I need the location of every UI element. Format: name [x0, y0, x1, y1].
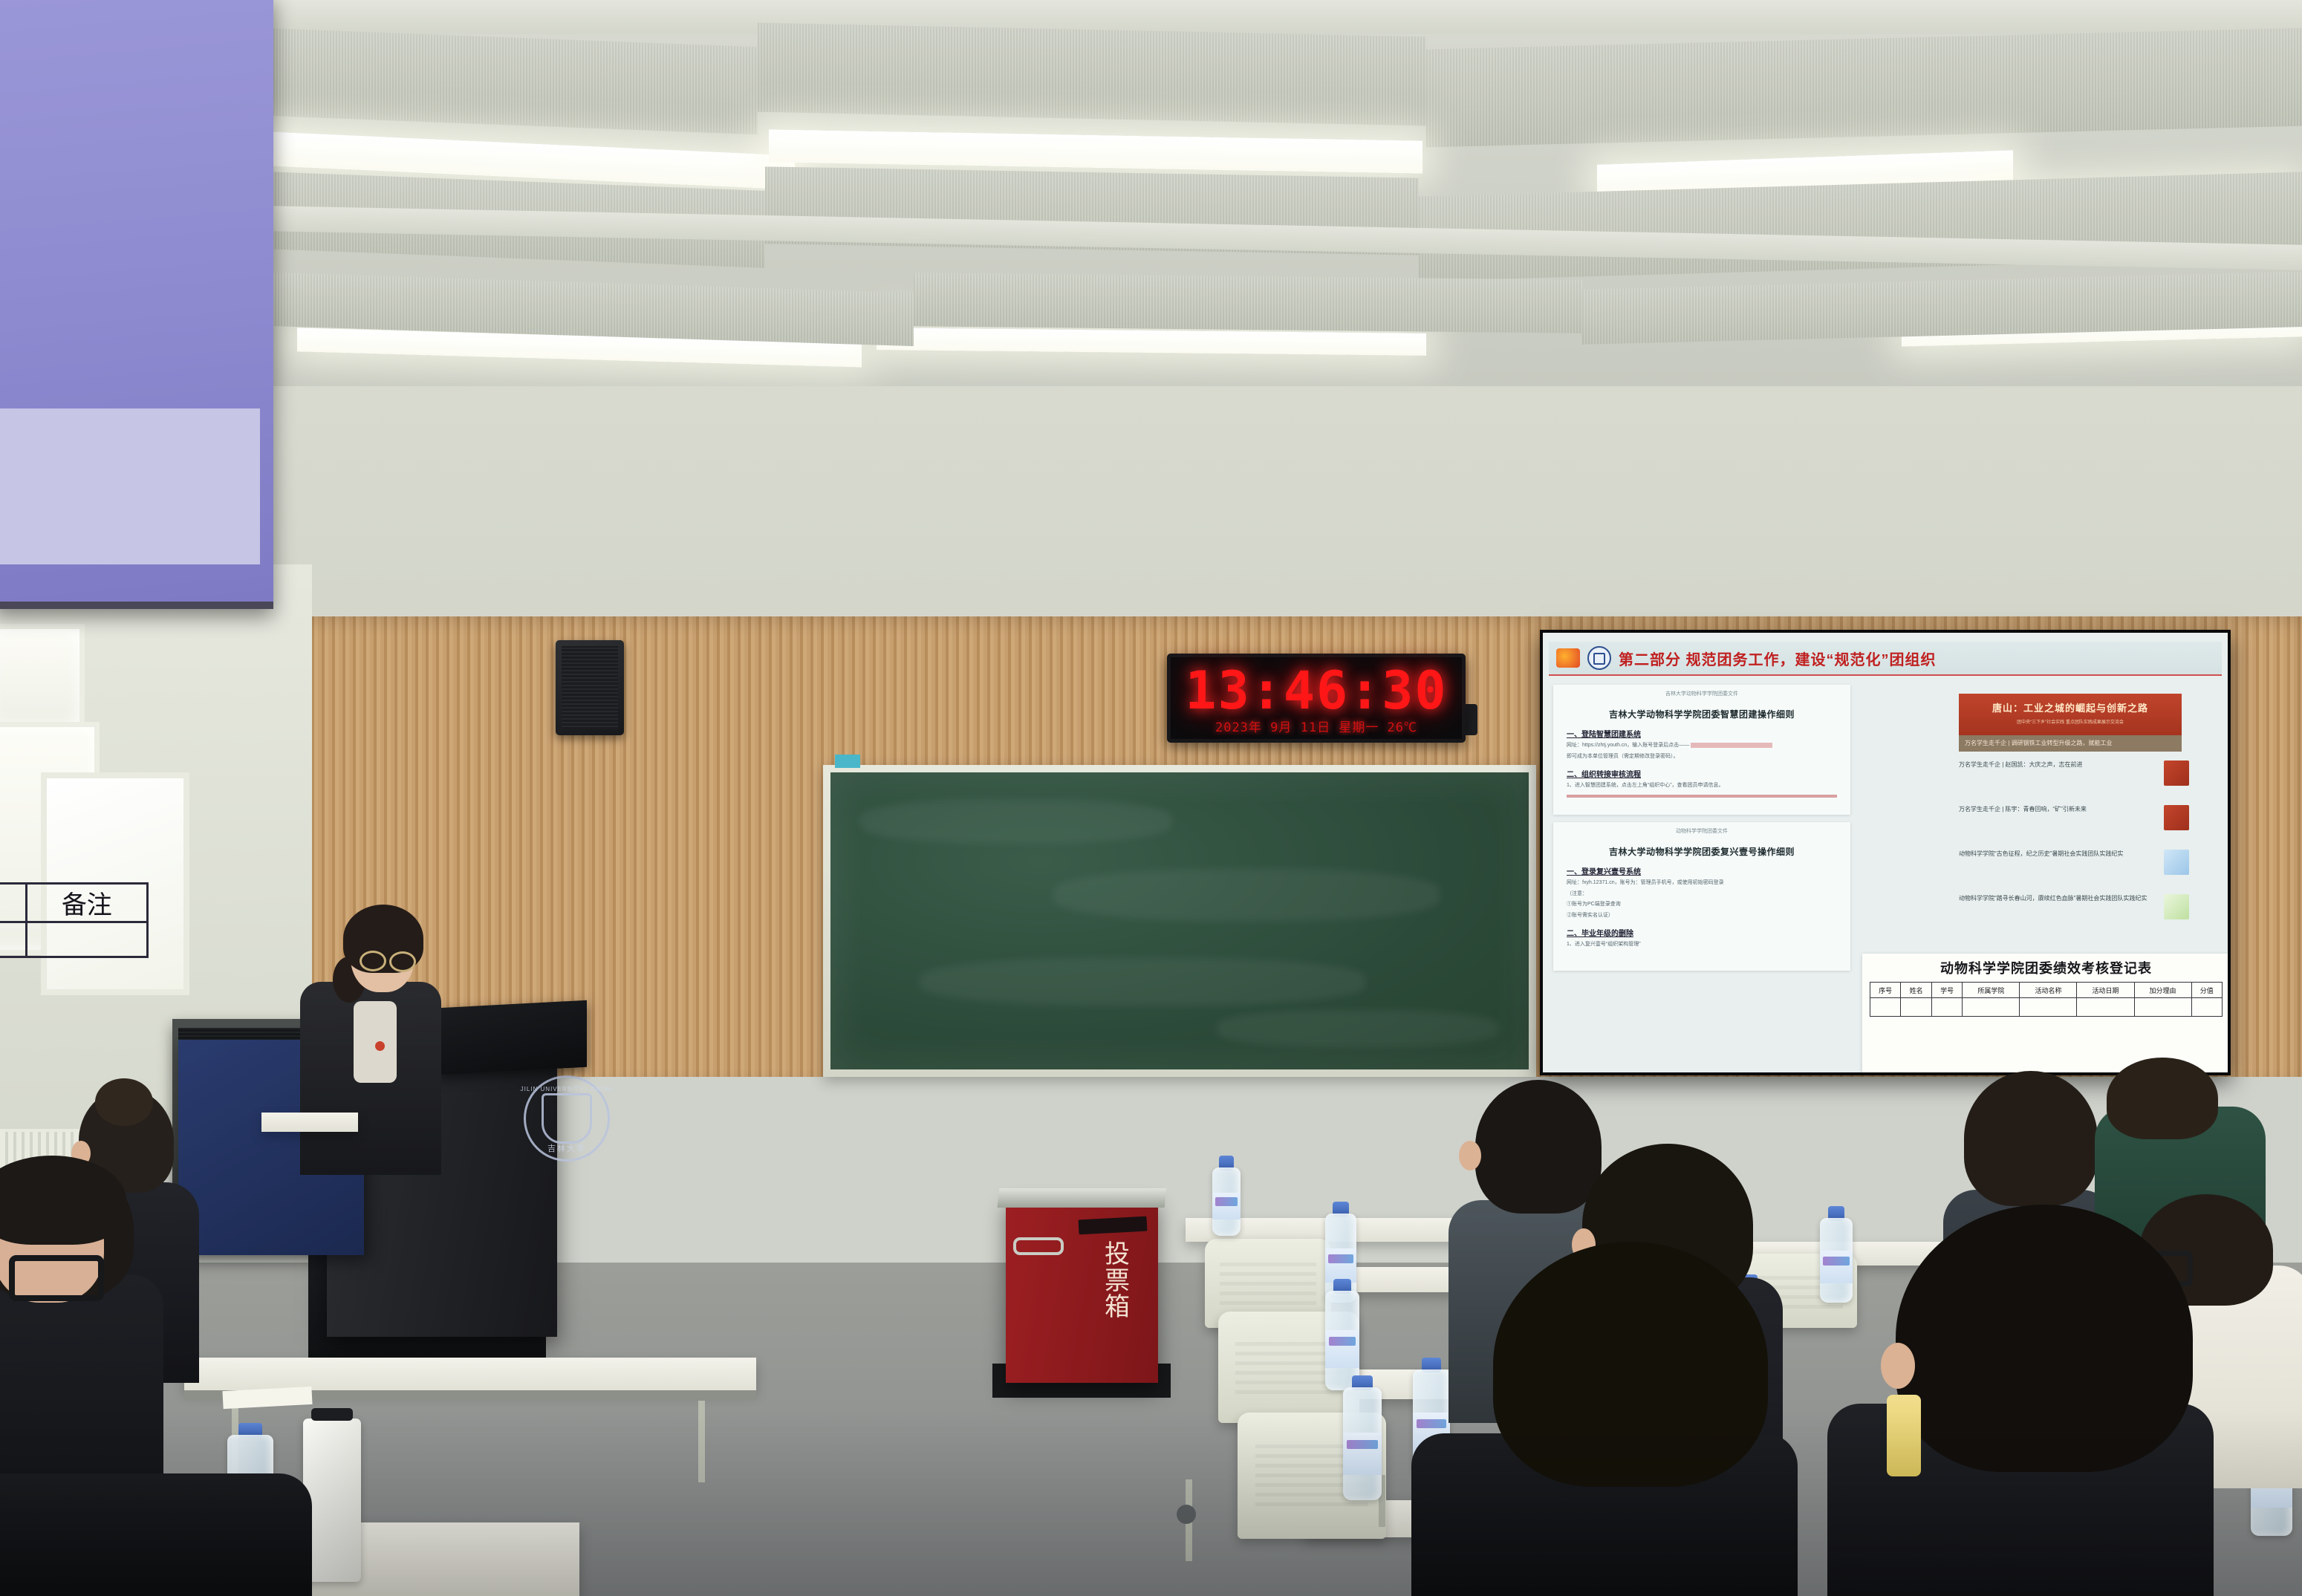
news-item[interactable]: 动物科学学院“踏寻长春山河，赓续红色血脉”暑期社会实践团队实践纪实 [1959, 894, 2189, 919]
news-item-text: 动物科学学院“古色征程，纪之历史”暑期社会实践团队实践纪实 [1959, 850, 2158, 859]
vignette [0, 1411, 2302, 1596]
news-item-text: 万名学生走千企 | 陈宇：青春回响，“矿”引新未来 [1959, 805, 2158, 814]
column-header: 所属学院 [1963, 983, 2020, 998]
blackboard [823, 765, 1536, 1077]
doc-section: 二、组织转接审核流程 [1567, 768, 1850, 779]
clock-date: 2023年 9月 11日 星期一 26℃ [1177, 717, 1456, 735]
water-bottle[interactable] [1325, 1279, 1359, 1390]
doc-underline [1567, 795, 1837, 798]
slide-title: 第二部分 规范团务工作，建设“规范化”团组织 [1619, 648, 1937, 669]
doc-body: 1、进入复兴壹号“组织架构管理” [1567, 941, 1850, 949]
doc-body: ①账号为PC端登录查询 [1567, 901, 1850, 909]
podium-monitor [438, 1000, 587, 1075]
slide-content: 第二部分 规范团务工作，建设“规范化”团组织 吉林大学动物科学学院团委文件 吉林… [1543, 633, 2228, 1072]
doc-header: 吉林大学动物科学学院团委文件 [1553, 690, 1850, 697]
document-card-fxyh: 动物科学学院团委文件 吉林大学动物科学学院团委复兴壹号操作细则 一、登录复兴壹号… [1553, 822, 1850, 971]
doc-title: 吉林大学动物科学学院团委复兴壹号操作细则 [1553, 845, 1850, 858]
column-header: 姓名 [1901, 983, 1932, 998]
news-item-text: 万名学生走千企 | 赵国凯：大庆之声，志在前进 [1959, 760, 2158, 769]
bottle-label [1325, 1248, 1356, 1283]
hair-bun [95, 1078, 153, 1126]
emblem-chinese-text: 吉林大学 [547, 1142, 586, 1154]
ballot-handle[interactable] [1013, 1237, 1064, 1255]
ceiling-light-strip [877, 328, 1426, 356]
party-flag-icon [1556, 648, 1580, 668]
column-header: 加分理由 [2134, 983, 2191, 998]
university-emblem: JILIN UNIVERSITY · CHINA 吉林大学 [524, 1075, 610, 1162]
doc-section: 一、登陆智慧团建系统 [1567, 728, 1850, 739]
news-thumbnail-icon [2164, 805, 2189, 830]
doc-body: （注意： [1567, 890, 1850, 899]
led-wall-clock: 13:46:30 2023年 9月 11日 星期一 26℃ [1167, 654, 1466, 743]
registration-form-card: 动物科学学院团委绩效考核登记表 序号 姓名 学号 所属学院 活动名称 活动日期 … [1862, 954, 2228, 1072]
ceiling [0, 0, 2302, 416]
doc-header: 动物科学学院团委文件 [1553, 827, 1850, 835]
news-thumbnail-icon [2164, 760, 2189, 786]
column-header: 序号 [1870, 983, 1901, 998]
secondary-screen-table: …理由 分值 备注 [0, 882, 149, 958]
column-header: 活动日期 [2077, 983, 2134, 998]
news-thumbnail-icon [2164, 894, 2189, 919]
lecture-hall-photo: …记表 …理由 分值 备注 13:46:30 2023年 9月 11日 星期一 … [0, 0, 2302, 1596]
news-item[interactable]: 动物科学学院“古色征程，纪之历史”暑期社会实践团队实践纪实 [1959, 850, 2189, 875]
doc-body: 1、进入智慧团建系统，点击左上角“组织中心”，查看团员申请信息。 [1567, 782, 1850, 790]
news-thumbnail-icon [2164, 850, 2189, 875]
secondary-projection-screen: …记表 …理由 分值 备注 [0, 0, 273, 609]
table-header-row: 序号 姓名 学号 所属学院 活动名称 活动日期 加分理由 分值 [1870, 983, 2222, 998]
column-header: 分值 [2191, 983, 2223, 998]
desk [184, 1358, 756, 1390]
document-card-zhtj: 吉林大学动物科学学院团委文件 吉林大学动物科学学院团委智慧团建操作细则 一、登陆… [1553, 685, 1850, 815]
ceiling-light-strip [769, 129, 1423, 173]
news-banner: 唐山：工业之城的崛起与创新之路 团中央“三下乡”社会实践 重点团队实践成果展示交… [1959, 694, 2182, 735]
table-row [1870, 998, 2222, 1017]
clock-time: 13:46:30 [1171, 660, 1462, 721]
news-item-text: 动物科学学院“踏寻长春山河，赓续红色血脉”暑期社会实践团队实践纪实 [1959, 894, 2158, 903]
university-emblem-icon [1587, 646, 1611, 670]
doc-body: 即可成为本单位管理员（需定期修改登录密码）。 [1567, 753, 1850, 761]
projection-screen: 第二部分 规范团务工作，建设“规范化”团组织 吉林大学动物科学学院团委文件 吉林… [1540, 630, 2231, 1075]
presenter-shirt [354, 1001, 397, 1083]
secondary-col-header: 备注 [26, 884, 147, 922]
window-upper [0, 624, 85, 731]
doc-section: 二、毕业年级的删除 [1567, 927, 1850, 938]
ballot-box-lid [998, 1188, 1167, 1208]
emblem-english-text: JILIN UNIVERSITY · CHINA [521, 1086, 614, 1092]
water-bottle[interactable] [1212, 1156, 1241, 1236]
news-banner-title: 唐山：工业之城的崛起与创新之路 [1959, 700, 2182, 714]
bottle-label [1820, 1251, 1853, 1283]
eyeglasses-icon [9, 1255, 104, 1301]
news-item[interactable]: 万名学生走千企 | 赵国凯：大庆之声，志在前进 [1959, 760, 2189, 786]
side-table [261, 1113, 358, 1132]
doc-title: 吉林大学动物科学学院团委智慧团建操作细则 [1553, 708, 1850, 720]
presenter-glasses-left [360, 951, 386, 971]
bottle-label [1325, 1330, 1359, 1368]
column-header: 学号 [1931, 983, 1963, 998]
slide-header: 第二部分 规范团务工作，建设“规范化”团组织 [1549, 642, 2222, 676]
wall-speaker [556, 640, 624, 735]
registration-form-table: 序号 姓名 学号 所属学院 活动名称 活动日期 加分理由 分值 [1870, 982, 2223, 1017]
column-header: 活动名称 [2020, 983, 2077, 998]
doc-body-text: 网址：https://zhtj.youth.cn，输入账号登录后点击—— [1567, 743, 1689, 748]
blackboard-label [835, 755, 860, 768]
water-bottle[interactable] [1820, 1206, 1853, 1303]
presenter-glasses-right [389, 951, 416, 972]
doc-body: 网址：fxyh.12371.cn，账号为：管理员手机号，或使用初始密码登录 [1567, 879, 1850, 887]
redacted-strike [1691, 743, 1772, 748]
doc-section: 一、登录复兴壹号系统 [1567, 865, 1850, 876]
presenter-lapel-badge [375, 1041, 385, 1051]
news-banner-subtitle: 团中央“三下乡”社会实践 重点团队实践成果展示交流会 [1959, 718, 2182, 725]
news-item[interactable]: 万名学生走千企 | 陈宇：青春回响，“矿”引新未来 [1959, 805, 2189, 830]
doc-body: 网址：https://zhtj.youth.cn，输入账号登录后点击—— [1567, 742, 1850, 750]
news-strip: 万名学生走千企 | 调研钢铁工业转型升级之路，赋能工业 [1959, 735, 2182, 752]
registration-form-title: 动物科学学院团委绩效考核登记表 [1862, 958, 2228, 977]
ballot-box-label: 投票箱 [1101, 1242, 1135, 1321]
secondary-col-header: 分值 [0, 884, 26, 922]
doc-body: ②账号需实名认证） [1567, 912, 1850, 920]
